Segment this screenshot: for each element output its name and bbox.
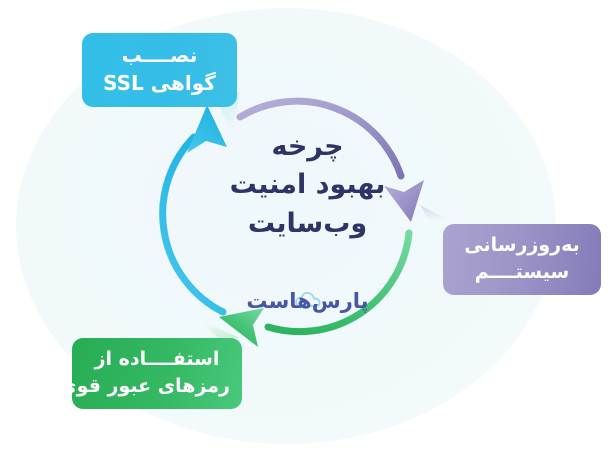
step-password-line-1: استفــــاده از — [84, 346, 230, 373]
step-update-line-2: سیستــــم — [455, 259, 589, 286]
step-badge-system-update[interactable]: به‌روزرسانی سیستــــم — [443, 224, 601, 295]
step-update-line-1: به‌روزرسانی — [455, 232, 589, 259]
brand-name: پارس‌هاست — [246, 286, 368, 316]
title-line-1: چرخه — [200, 128, 415, 166]
step-ssl-line-1: نصــــب — [94, 41, 225, 69]
title-line-2: بهبود امنیت — [200, 166, 415, 204]
step-ssl-line-2: گواهی SSL — [94, 69, 225, 97]
step-password-line-2: رمزهای عبور قوی — [84, 373, 230, 400]
infographic-canvas: چرخه بهبود امنیت وب‌سایت پارس‌هاست نصـــ… — [0, 0, 614, 450]
title-line-3: وب‌سایت — [200, 205, 415, 243]
step-badge-strong-passwords[interactable]: استفــــاده از رمزهای عبور قوی — [72, 338, 242, 409]
brand-logo: پارس‌هاست — [240, 286, 375, 318]
step-badge-ssl[interactable]: نصــــب گواهی SSL — [82, 33, 237, 107]
cycle-title: چرخه بهبود امنیت وب‌سایت — [200, 128, 415, 243]
